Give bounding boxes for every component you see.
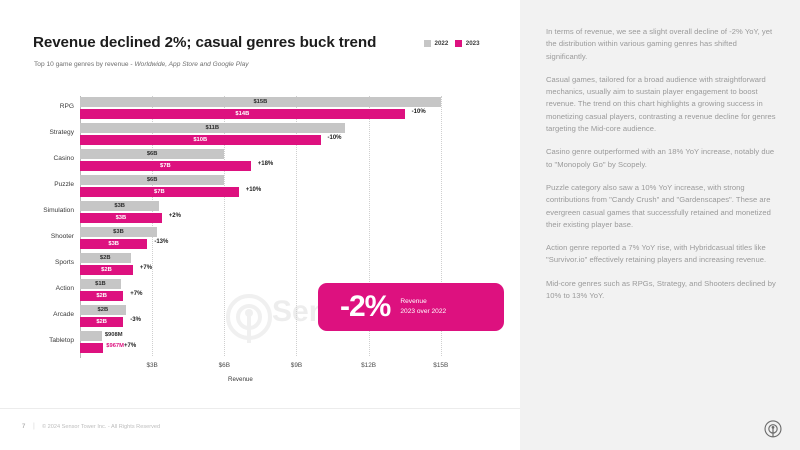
commentary-paragraph: Mid-core genres such as RPGs, Strategy, …	[546, 278, 778, 303]
chart-row[interactable]: Strategy$11B$10B-10%	[80, 122, 460, 148]
category-label: Sports	[2, 259, 74, 266]
commentary-paragraph: Action genre reported a 7% YoY rise, wit…	[546, 242, 778, 267]
bar-2023[interactable]: $10B	[80, 135, 321, 145]
slide-canvas: Revenue declined 2%; casual genres buck …	[0, 0, 800, 450]
commentary-paragraph: Casual games, tailored for a broad audie…	[546, 74, 778, 135]
sensor-tower-logo-icon	[762, 419, 784, 441]
x-axis-tick: $12B	[361, 362, 376, 369]
legend-item-2022: 2022	[424, 40, 448, 47]
bar-2022[interactable]: $2B	[80, 305, 126, 315]
bar-value-label: $3B	[116, 215, 127, 221]
bar-value-label: $10B	[193, 137, 207, 143]
legend-swatch-2023	[455, 40, 462, 47]
callout-caption-line1: Revenue	[400, 297, 446, 307]
bar-2023[interactable]: $2B	[80, 265, 133, 275]
bar-value-label: $14B	[235, 111, 249, 117]
bar-value-label: $11B	[206, 125, 220, 131]
yoy-delta-label: +10%	[246, 187, 262, 193]
bar-value-label: $967M	[106, 343, 124, 349]
legend-swatch-2022	[424, 40, 431, 47]
bar-value-label: $2B	[101, 267, 112, 273]
category-label: Shooter	[2, 233, 74, 240]
bar-value-label: $1B	[95, 281, 106, 287]
subtitle-plain: Top 10 game genres by revenue -	[34, 61, 134, 68]
commentary-paragraph: Casino genre outperformed with an 18% Yo…	[546, 146, 778, 171]
category-label: Action	[2, 285, 74, 292]
bar-value-label: $2B	[98, 307, 109, 313]
legend-label-2022: 2022	[435, 40, 449, 47]
bar-2023[interactable]: $2B	[80, 317, 123, 327]
yoy-delta-label: +7%	[130, 291, 142, 297]
yoy-delta-label: -3%	[130, 317, 141, 323]
bar-2022[interactable]: $6B	[80, 149, 224, 159]
yoy-delta-label: -13%	[154, 239, 168, 245]
x-axis-tick: $15B	[433, 362, 448, 369]
legend-label-2023: 2023	[466, 40, 480, 47]
bar-2022[interactable]	[80, 331, 102, 341]
bar-2023[interactable]: $14B	[80, 109, 405, 119]
chart-row[interactable]: Sports$2B$2B+7%	[80, 252, 460, 278]
bar-value-label: $2B	[96, 293, 107, 299]
bar-value-label: $15B	[253, 99, 267, 105]
bar-2022[interactable]: $1B	[80, 279, 121, 289]
category-label: Simulation	[2, 207, 74, 214]
bar-value-label: $7B	[160, 163, 171, 169]
copyright-text: © 2024 Sensor Tower Inc. - All Rights Re…	[42, 424, 160, 430]
category-label: Casino	[2, 155, 74, 162]
x-axis-tick: $3B	[146, 362, 157, 369]
page-number: 7	[22, 424, 25, 430]
commentary-paragraphs: In terms of revenue, we see a slight ove…	[546, 26, 778, 313]
yoy-delta-label: -10%	[412, 109, 426, 115]
legend-item-2023: 2023	[455, 40, 479, 47]
callout-caption-line2: 2023 over 2022	[400, 307, 446, 317]
callout-value: -2%	[340, 292, 390, 322]
bar-2022[interactable]: $2B	[80, 253, 131, 263]
bar-2022[interactable]: $3B	[80, 201, 159, 211]
subtitle-italic: Worldwide, App Store and Google Play	[134, 61, 248, 68]
footer-separator: |	[33, 423, 35, 430]
bar-value-label: $3B	[114, 203, 125, 209]
summary-callout-badge: -2% Revenue 2023 over 2022	[318, 283, 504, 331]
category-label: Puzzle	[2, 181, 74, 188]
bar-2022[interactable]: $15B	[80, 97, 441, 107]
yoy-delta-label: +7%	[140, 265, 152, 271]
chart-row[interactable]: Puzzle$6B$7B+10%	[80, 174, 460, 200]
x-axis-tick: $6B	[219, 362, 230, 369]
page-subtitle: Top 10 game genres by revenue - Worldwid…	[34, 61, 249, 68]
chart-row[interactable]: Shooter$3B$3B-13%	[80, 226, 460, 252]
bar-2022[interactable]: $6B	[80, 175, 224, 185]
bar-2022[interactable]: $3B	[80, 227, 157, 237]
bar-value-label: $3B	[108, 241, 119, 247]
yoy-delta-label: +2%	[169, 213, 181, 219]
chart-panel: Revenue declined 2%; casual genres buck …	[0, 0, 520, 450]
bar-2022[interactable]: $11B	[80, 123, 345, 133]
bar-2023[interactable]: $3B	[80, 239, 147, 249]
chart-legend: 2022 2023	[424, 40, 480, 47]
category-label: Strategy	[2, 129, 74, 136]
bar-2023[interactable]	[80, 343, 103, 353]
x-axis-title: Revenue	[228, 376, 253, 383]
commentary-paragraph: Puzzle category also saw a 10% YoY incre…	[546, 182, 778, 231]
page-title: Revenue declined 2%; casual genres buck …	[33, 34, 376, 51]
footer-divider	[0, 408, 520, 409]
bar-2023[interactable]: $3B	[80, 213, 162, 223]
yoy-delta-label: +18%	[258, 161, 274, 167]
chart-row[interactable]: Tabletop$908M$967M+7%	[80, 330, 460, 356]
chart-row[interactable]: RPG$15B$14B-10%	[80, 96, 460, 122]
bar-value-label: $6B	[147, 177, 158, 183]
callout-caption: Revenue 2023 over 2022	[400, 297, 446, 317]
chart-row[interactable]: Simulation$3B$3B+2%	[80, 200, 460, 226]
bar-value-label: $3B	[113, 229, 124, 235]
chart-row[interactable]: Casino$6B$7B+18%	[80, 148, 460, 174]
category-label: Tabletop	[2, 337, 74, 344]
x-axis-tick: $9B	[291, 362, 302, 369]
category-label: RPG	[2, 103, 74, 110]
bar-value-label: $2B	[96, 319, 107, 325]
bar-2023[interactable]: $7B	[80, 187, 239, 197]
commentary-panel: In terms of revenue, we see a slight ove…	[520, 0, 800, 450]
bar-2023[interactable]: $2B	[80, 291, 123, 301]
bar-value-label: $7B	[154, 189, 165, 195]
bar-value-label: $908M	[105, 332, 123, 338]
bar-value-label: $6B	[147, 151, 158, 157]
category-label: Arcade	[2, 311, 74, 318]
bar-2023[interactable]: $7B	[80, 161, 251, 171]
yoy-delta-label: -10%	[328, 135, 342, 141]
bar-value-label: $2B	[100, 255, 111, 261]
yoy-delta-label: +7%	[124, 343, 136, 349]
commentary-paragraph: In terms of revenue, we see a slight ove…	[546, 26, 778, 63]
